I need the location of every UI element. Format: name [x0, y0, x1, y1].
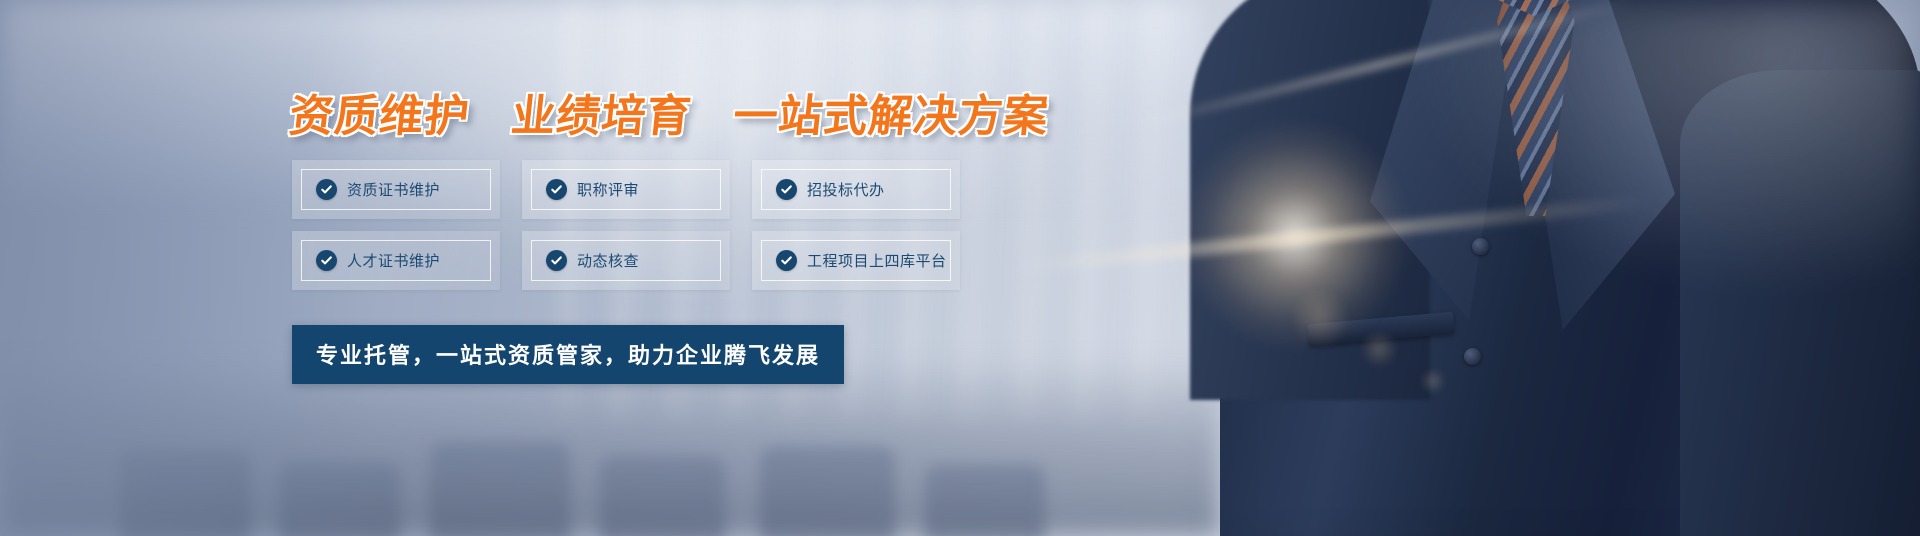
service-card-label: 资质证书维护	[347, 179, 440, 200]
headline-part-3: 一站式解决方案	[731, 80, 1053, 144]
service-card-grid: 资质证书维护 职称评审 招投标代办	[292, 160, 960, 290]
service-card-inner: 工程项目上四库平台	[761, 240, 951, 281]
service-card[interactable]: 人才证书维护	[292, 231, 500, 290]
check-circle-icon	[316, 179, 337, 200]
service-card-inner: 资质证书维护	[301, 169, 491, 210]
banner-headline: 资质维护 业绩培育 一站式解决方案	[287, 80, 1053, 144]
promo-banner: 资质维护 业绩培育 一站式解决方案 资质证书维护 职称评审	[0, 0, 1920, 536]
service-card-inner: 动态核查	[531, 240, 721, 281]
service-card[interactable]: 工程项目上四库平台	[752, 231, 960, 290]
banner-content: 资质维护 业绩培育 一站式解决方案 资质证书维护 职称评审	[0, 0, 1920, 536]
service-card-inner: 人才证书维护	[301, 240, 491, 281]
service-card-inner: 职称评审	[531, 169, 721, 210]
service-card-inner: 招投标代办	[761, 169, 951, 210]
service-card[interactable]: 职称评审	[522, 160, 730, 219]
service-card-label: 动态核查	[577, 250, 639, 271]
check-circle-icon	[776, 250, 797, 271]
tagline-bar: 专业托管，一站式资质管家，助力企业腾飞发展	[292, 325, 844, 384]
headline-part-2: 业绩培育	[509, 80, 696, 144]
check-circle-icon	[546, 179, 567, 200]
service-card-label: 招投标代办	[807, 179, 885, 200]
service-card[interactable]: 资质证书维护	[292, 160, 500, 219]
check-circle-icon	[316, 250, 337, 271]
check-circle-icon	[776, 179, 797, 200]
check-circle-icon	[546, 250, 567, 271]
service-card-label: 工程项目上四库平台	[807, 250, 947, 271]
service-card[interactable]: 招投标代办	[752, 160, 960, 219]
service-card[interactable]: 动态核查	[522, 231, 730, 290]
service-card-label: 人才证书维护	[347, 250, 440, 271]
headline-part-1: 资质维护	[287, 80, 474, 144]
service-card-label: 职称评审	[577, 179, 639, 200]
